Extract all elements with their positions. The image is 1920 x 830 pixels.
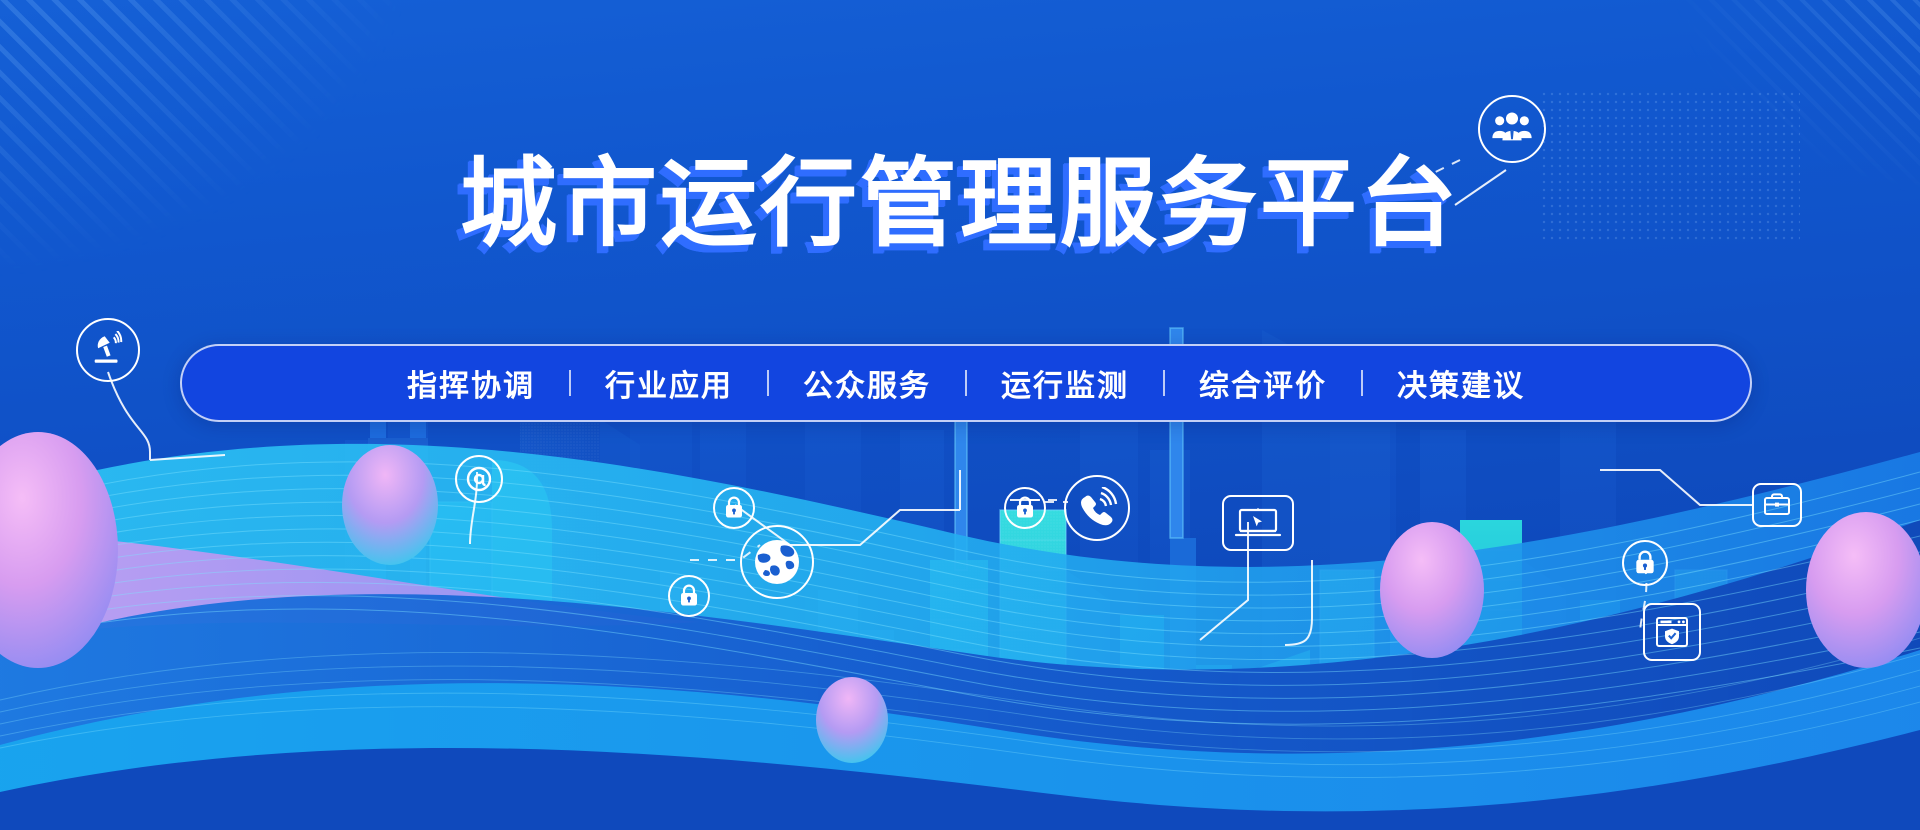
phone-call-icon[interactable] [1064,475,1130,541]
lock-icon-1[interactable] [713,487,755,529]
page-title-wrapper: 城市运行管理服务平台 [0,152,1920,257]
nav-item-0[interactable]: 指挥协调 [373,361,569,405]
lock-icon-4[interactable] [1622,540,1668,586]
gradient-sphere-decorations [0,390,1920,830]
nav-item-1[interactable]: 行业应用 [571,361,767,405]
main-navigation-bar[interactable]: 指挥协调 行业应用 公众服务 运行监测 综合评价 决策建议 [180,344,1752,422]
laptop-cursor-icon[interactable] [1222,495,1294,551]
nav-item-5[interactable]: 决策建议 [1363,361,1559,405]
lock-icon-2[interactable] [668,575,710,617]
browser-shield-icon[interactable] [1643,603,1701,661]
nav-item-3[interactable]: 运行监测 [967,361,1163,405]
nav-item-4[interactable]: 综合评价 [1165,361,1361,405]
at-sign-icon[interactable] [455,455,503,503]
lock-icon-3[interactable] [1004,487,1046,529]
page-title: 城市运行管理服务平台 [460,152,1460,257]
globe-icon[interactable] [740,525,814,599]
nav-item-2[interactable]: 公众服务 [769,361,965,405]
city-platform-banner: 城市运行管理服务平台 指挥协调 行业应用 公众服务 运行监测 综合评价 决策建议 [0,0,1920,830]
satellite-dish-icon[interactable] [76,318,140,382]
briefcase-icon[interactable] [1752,483,1802,527]
